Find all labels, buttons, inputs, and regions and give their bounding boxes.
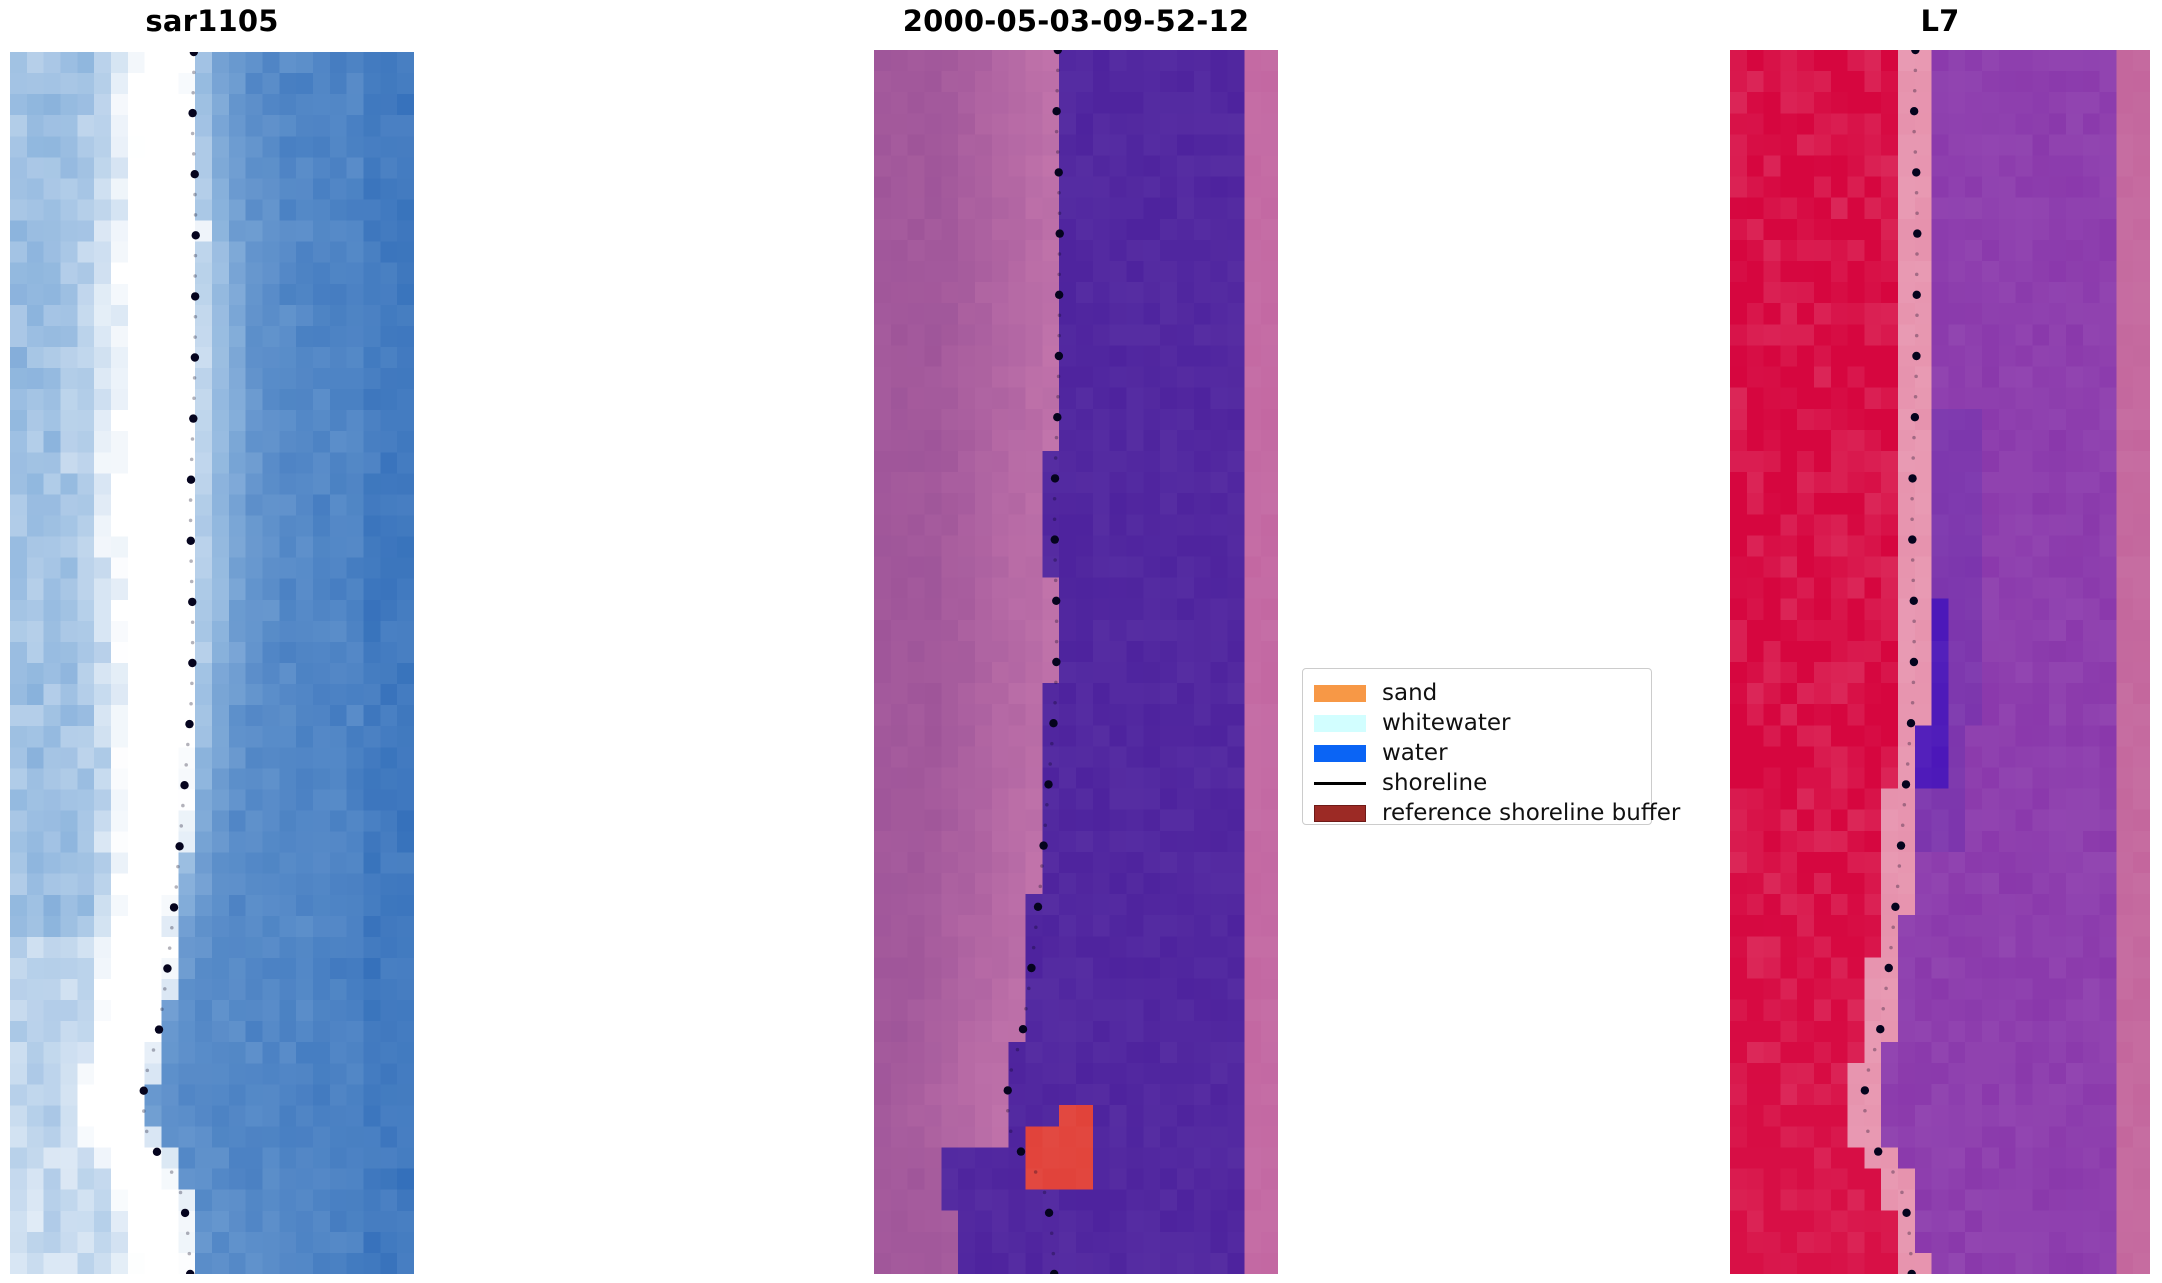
legend-swatch-whitewater — [1314, 715, 1366, 732]
panel-sar1105: sar1105 — [10, 0, 414, 1274]
legend-label-water: water — [1382, 742, 1448, 765]
legend-item-reference-buffer: reference shoreline buffer — [1314, 798, 1639, 828]
raster-image-classified — [874, 50, 1278, 1274]
legend: sand whitewater water shoreline referenc… — [1302, 668, 1652, 825]
legend-label-whitewater: whitewater — [1382, 712, 1510, 735]
legend-item-sand: sand — [1314, 678, 1639, 708]
legend-item-whitewater: whitewater — [1314, 708, 1639, 738]
legend-label-sand: sand — [1382, 682, 1437, 705]
shoreline-line-icon — [1314, 782, 1366, 785]
raster-image-sar1105 — [10, 52, 414, 1274]
panel-title-classified: 2000-05-03-09-52-12 — [874, 4, 1278, 38]
legend-swatch-sand — [1314, 685, 1366, 702]
panel-image-classified — [874, 50, 1278, 1274]
figure-canvas: sar1105 2000-05-03-09-52-12 L7 sand whit… — [0, 0, 2162, 1283]
panel-title-sar1105: sar1105 — [10, 4, 414, 38]
legend-swatch-shoreline — [1314, 775, 1366, 792]
panel-l7: L7 — [1730, 0, 2150, 1274]
legend-swatch-water — [1314, 745, 1366, 762]
legend-swatch-reference-buffer — [1314, 805, 1366, 822]
raster-image-l7 — [1730, 50, 2150, 1274]
legend-label-shoreline: shoreline — [1382, 772, 1487, 795]
legend-item-water: water — [1314, 738, 1639, 768]
panel-classified: 2000-05-03-09-52-12 — [874, 0, 1278, 1274]
panel-image-l7 — [1730, 50, 2150, 1274]
legend-label-reference-buffer: reference shoreline buffer — [1382, 802, 1680, 825]
panel-image-sar1105 — [10, 52, 414, 1274]
legend-item-shoreline: shoreline — [1314, 768, 1639, 798]
panel-title-l7: L7 — [1730, 4, 2150, 38]
